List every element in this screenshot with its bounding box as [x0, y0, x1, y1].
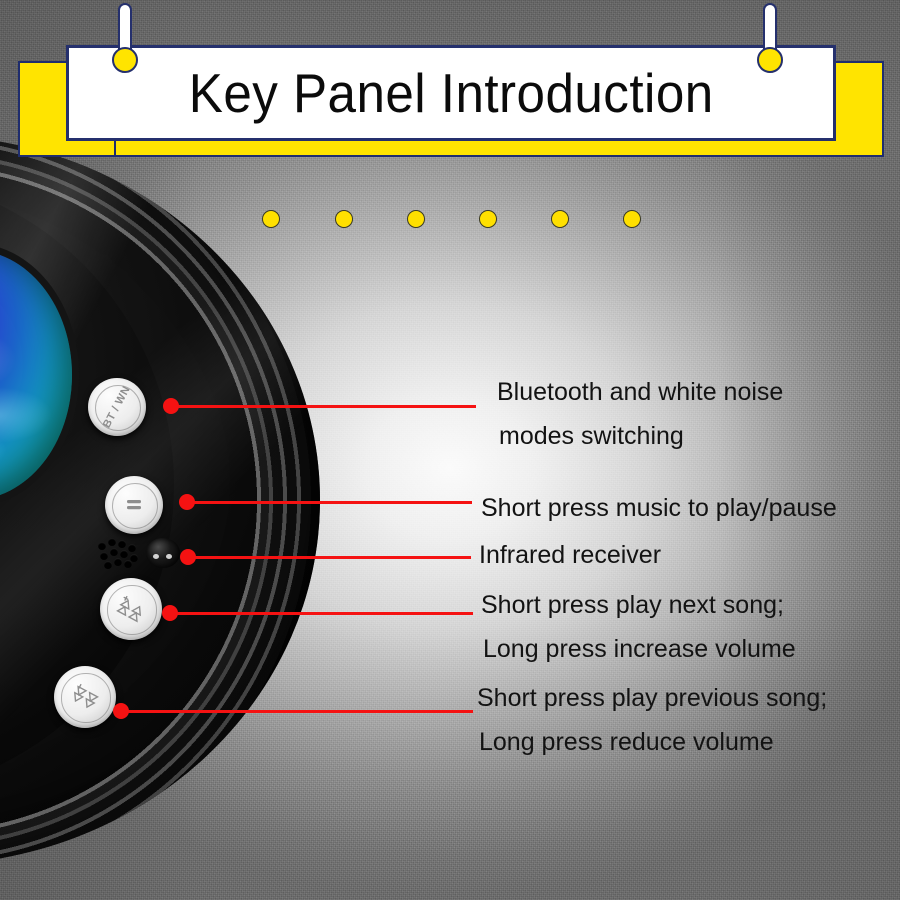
mic-hole: [110, 548, 118, 556]
leader-dot-next: [162, 605, 178, 621]
leader-line-prev: [121, 710, 473, 713]
mic-hole: [114, 558, 122, 566]
ir-specular-left: [153, 554, 159, 559]
decorative-dot-3: [407, 210, 425, 228]
mic-hole: [118, 540, 126, 548]
callout-text-prev-line-1: Short press play previous song;: [477, 678, 827, 718]
mic-hole: [98, 542, 106, 550]
callout-text-prev-line-2: Long press reduce volume: [479, 722, 774, 762]
decorative-dot-6: [623, 210, 641, 228]
page-title: Key Panel Introduction: [189, 61, 714, 125]
mic-hole: [124, 560, 132, 568]
previous-track-volume-down-icon: [65, 677, 106, 718]
title-banner: Key Panel Introduction: [66, 45, 836, 141]
infrared-receiver-icon: [146, 538, 180, 568]
callout-text-bt-wn-line-2: modes switching: [499, 416, 684, 456]
mic-hole: [120, 550, 128, 558]
speaker-button-label: BT / WN: [101, 384, 133, 430]
decorative-dot-1: [262, 210, 280, 228]
decorative-dot-4: [479, 210, 497, 228]
mic-hole: [128, 544, 136, 552]
leader-dot-bt-wn: [163, 398, 179, 414]
leader-dot-infrared: [180, 549, 196, 565]
callout-text-play-pause-line-1: Short press music to play/pause: [481, 488, 837, 528]
speaker-button-bt-wn[interactable]: BT / WN: [88, 378, 146, 436]
pin-knob-icon: [112, 47, 138, 73]
mic-hole: [108, 538, 116, 546]
mic-hole: [104, 561, 112, 569]
decorative-dot-row: [0, 210, 900, 230]
leader-line-bt-wn: [171, 405, 476, 408]
mic-hole: [100, 552, 108, 560]
ir-specular-right: [166, 554, 172, 559]
decorative-dot-5: [551, 210, 569, 228]
infographic-canvas: BT / WN Key Panel Introduction Bluetooth…: [0, 0, 900, 900]
leader-line-play-pause: [187, 501, 472, 504]
callout-text-next-line-2: Long press increase volume: [483, 629, 796, 669]
light-projector-dome: [0, 250, 72, 500]
leader-dot-play-pause: [179, 494, 195, 510]
microphone-hole-cluster: [98, 538, 140, 572]
callout-text-next-line-1: Short press play next song;: [481, 585, 784, 625]
speaker-button-play-pause[interactable]: [105, 476, 163, 534]
pin-knob-icon: [757, 47, 783, 73]
next-track-volume-up-icon: [111, 589, 152, 630]
leader-line-next: [170, 612, 473, 615]
leader-line-infrared: [188, 556, 471, 559]
callout-text-infrared-line-1: Infrared receiver: [479, 535, 661, 575]
banner-face: Key Panel Introduction: [66, 45, 836, 141]
callout-text-bt-wn-line-1: Bluetooth and white noise: [497, 372, 783, 412]
speaker-button-next[interactable]: [100, 578, 162, 640]
leader-dot-prev: [113, 703, 129, 719]
decorative-dot-2: [335, 210, 353, 228]
pause-icon: [122, 496, 146, 514]
speaker-button-prev[interactable]: [54, 666, 116, 728]
dome-swirl-pattern: [0, 250, 72, 500]
